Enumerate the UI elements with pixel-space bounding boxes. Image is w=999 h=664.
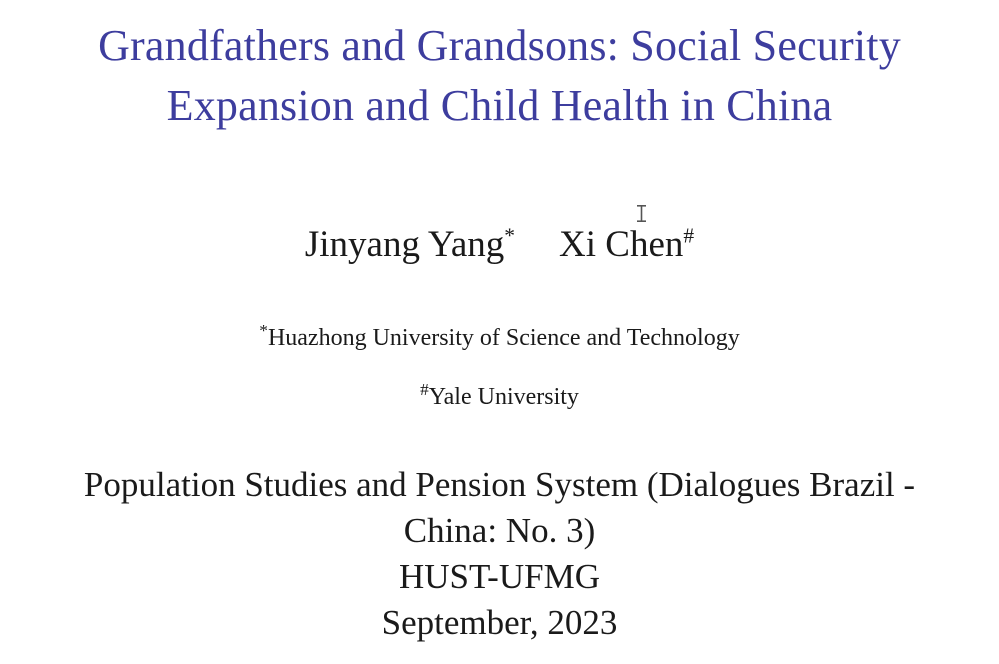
- title-line-1: Grandfathers and Grandsons: Social Secur…: [0, 16, 999, 76]
- author-2: Xi Chen#: [559, 222, 694, 268]
- venue-line-1: Population Studies and Pension System (D…: [0, 462, 999, 508]
- venue-host-institutions: HUST-UFMG: [0, 554, 999, 600]
- affiliation-2-marker: #: [420, 380, 429, 399]
- title-line-2: Expansion and Child Health in China: [0, 76, 999, 136]
- author-2-name: Xi Chen: [559, 224, 683, 265]
- text-cursor-icon: [636, 205, 647, 222]
- author-2-affiliation-marker: #: [683, 224, 694, 248]
- affiliation-1: *Huazhong University of Science and Tech…: [0, 323, 999, 353]
- venue-block: Population Studies and Pension System (D…: [0, 462, 999, 646]
- venue-date: September, 2023: [0, 600, 999, 646]
- affiliation-2: #Yale University: [0, 382, 999, 412]
- author-list: Jinyang Yang*Xi Chen#: [0, 222, 999, 268]
- presentation-slide: Grandfathers and Grandsons: Social Secur…: [0, 0, 999, 664]
- affiliation-2-name: Yale University: [429, 384, 579, 410]
- author-1-name: Jinyang Yang: [305, 224, 504, 265]
- affiliation-1-name: Huazhong University of Science and Techn…: [268, 325, 740, 351]
- affiliation-1-marker: *: [259, 321, 268, 340]
- author-1: Jinyang Yang*: [305, 222, 515, 268]
- venue-line-2: China: No. 3): [0, 508, 999, 554]
- author-1-affiliation-marker: *: [504, 224, 515, 248]
- slide-title: Grandfathers and Grandsons: Social Secur…: [0, 16, 999, 136]
